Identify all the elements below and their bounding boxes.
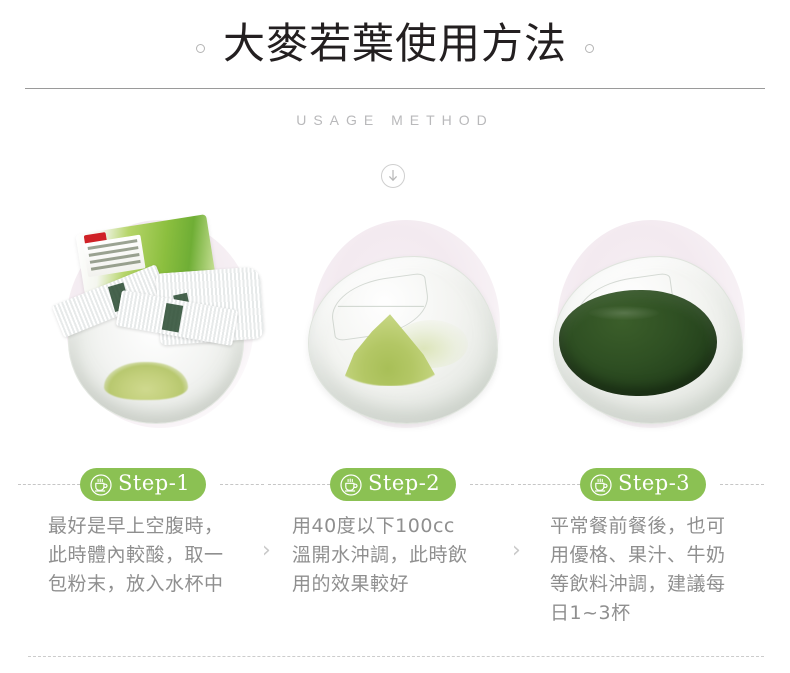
step-1-photo <box>52 212 267 440</box>
bottom-divider <box>28 656 764 657</box>
step-1-description: 最好是早上空腹時， 此時體內較酸，取一 包粉末，放入水杯中 <box>48 512 266 599</box>
title-decor-circle-left <box>196 44 205 53</box>
step-2-badge-label: Step-2 <box>368 473 440 494</box>
cup-icon <box>590 474 612 496</box>
title-decor-circle-right <box>585 44 594 53</box>
step-text-line: 用優格、果汁、牛奶 <box>550 541 768 570</box>
step-2-description: 用40度以下100cc 溫開水沖調，此時飲 用的效果較好 <box>292 512 510 599</box>
step-text-line: 最好是早上空腹時， <box>48 512 266 541</box>
page-header: 大麥若葉使用方法 <box>0 0 790 92</box>
badge-dash-right <box>720 484 764 485</box>
step-3-badge-label: Step-3 <box>618 473 690 494</box>
step-text-line: 日1~3杯 <box>550 599 768 628</box>
step-1-badge-col: Step-1 <box>18 466 264 504</box>
title-row: 大麥若葉使用方法 <box>0 18 790 70</box>
header-divider <box>25 88 765 89</box>
step-text-line: 溫開水沖調，此時飲 <box>292 541 510 570</box>
step-2-badge-col: Step-2 <box>268 466 514 504</box>
step-text-line: 平常餐前餐後，也可 <box>550 512 768 541</box>
step-3-badge[interactable]: Step-3 <box>580 468 706 501</box>
page-subtitle: USAGE METHOD <box>0 112 790 128</box>
step-text-line: 用40度以下100cc <box>292 512 510 541</box>
step-2-photo <box>298 212 513 440</box>
badge-dash-left <box>18 484 80 485</box>
down-arrow-icon <box>381 164 405 188</box>
step-2-badge[interactable]: Step-2 <box>330 468 456 501</box>
step-1-badge[interactable]: Step-1 <box>80 468 206 501</box>
step-text-line: 包粉末，放入水杯中 <box>48 570 266 599</box>
badge-dash-right <box>470 484 514 485</box>
photo-row: › › <box>0 212 790 442</box>
step-badge-row: Step-1 Step-2 <box>0 466 790 504</box>
cup-icon <box>340 474 362 496</box>
badge-dash-right <box>220 484 264 485</box>
page-title: 大麥若葉使用方法 <box>223 18 567 70</box>
step-3-badge-col: Step-3 <box>518 466 764 504</box>
step-3-photo <box>543 212 758 440</box>
step-3-description: 平常餐前餐後，也可 用優格、果汁、牛奶 等飲料沖調，建議每 日1~3杯 <box>550 512 768 628</box>
step-text-line: 此時體內較酸，取一 <box>48 541 266 570</box>
step-text-row: 最好是早上空腹時， 此時體內較酸，取一 包粉末，放入水杯中 用40度以下100c… <box>0 512 790 642</box>
step-1-badge-label: Step-1 <box>118 473 190 494</box>
badge-dash-left <box>268 484 330 485</box>
cup-icon <box>90 474 112 496</box>
green-juice-liquid <box>559 290 717 396</box>
step-text-line: 等飲料沖調，建議每 <box>550 570 768 599</box>
step-text-line: 用的效果較好 <box>292 570 510 599</box>
badge-dash-left <box>518 484 580 485</box>
